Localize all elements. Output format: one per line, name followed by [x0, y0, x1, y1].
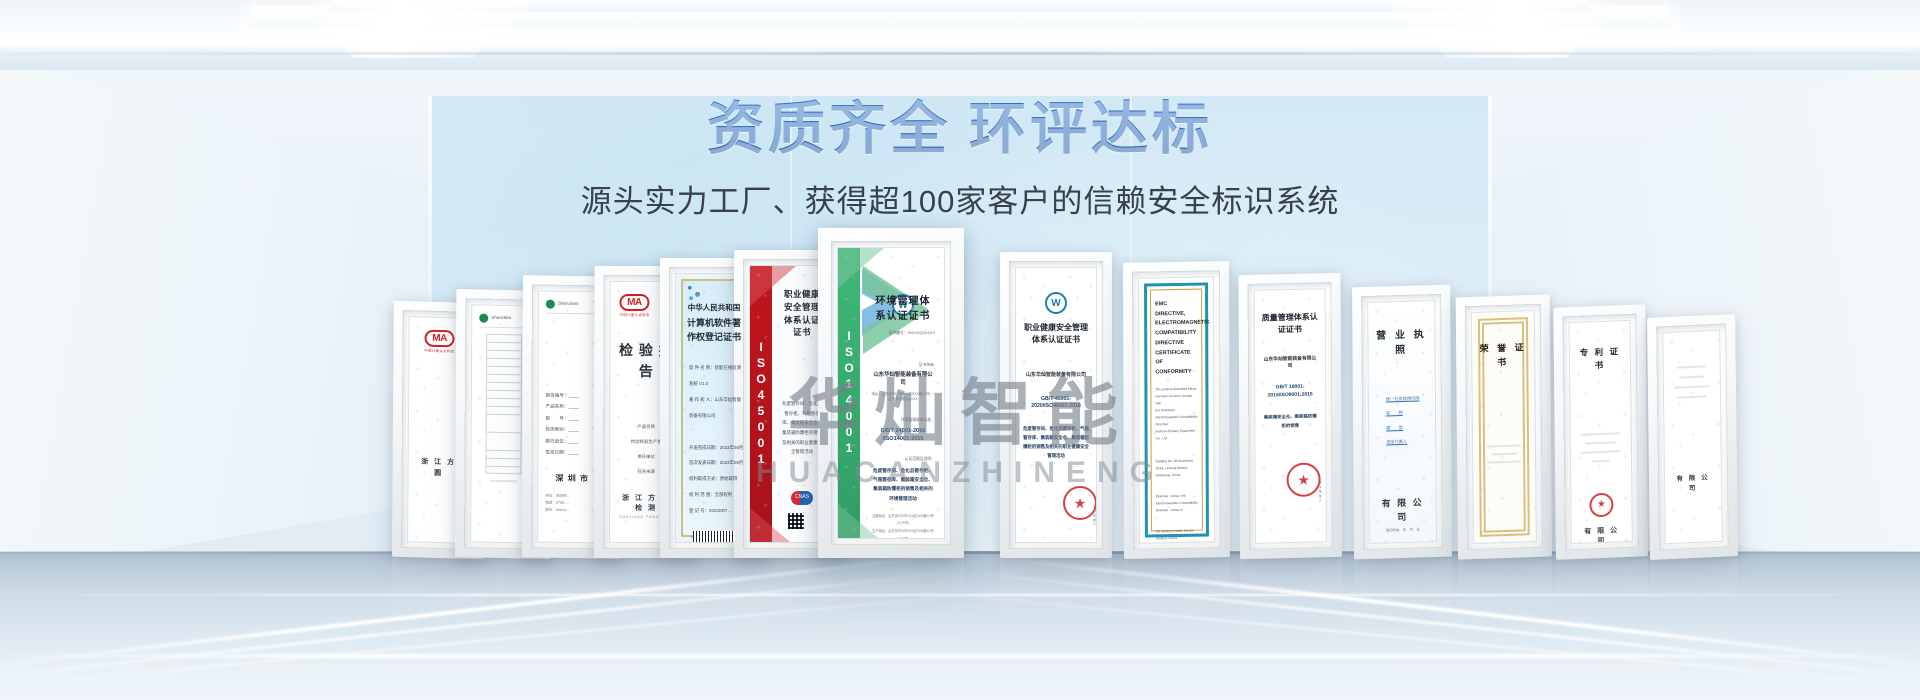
page-subtitle: 源头实力工厂、获得超100家客户的信赖安全标识系统 [0, 176, 1920, 221]
red-seal-stamp: ★ [1063, 486, 1096, 520]
report-fields: 报告编号：____产品名称：____型 号：____检测类别：____委托单位：… [545, 390, 599, 460]
page-title: 资质齐全环评达标 [0, 98, 1920, 162]
page-title-part2: 环评达标 [969, 97, 1213, 161]
page-title-part1: 资质齐全 [707, 97, 951, 161]
certificate-company: 山东华灿智能装备有限公司 [1262, 355, 1318, 371]
banner-headings: 资质齐全环评达标 源头实力工厂、获得超100家客户的信赖安全标识系统 [0, 0, 1920, 221]
floor-light-streak-horizontal [0, 594, 1920, 596]
certificate-scope: 危废暂存间、危化品暂存柜、气瓶暂存库、集装箱安全仓、集装箱防爆柜的销售及相关的职… [782, 399, 822, 457]
certificate-footer: 有 限 公 司 [1377, 496, 1429, 524]
certificate-standard: GB/T 19001-2016/ISO9001:2015 [1262, 384, 1318, 400]
certificate-scope: 集装箱安全仓、集装箱防爆柜的销售 [1262, 413, 1318, 432]
certificate-frame-ce-emc[interactable]: EMC DIRECTIVE, ELECTROMAGNETIC COMPATIBI… [1123, 261, 1230, 559]
certificate-title: 专 利 证 书 [1577, 345, 1623, 372]
certification-emblem-icon: W [1045, 292, 1067, 314]
copyright-fields: 软 件 名 称：智能在线监测系统 V1.0 著 作 权 人：山东华灿智能装备有限… [683, 360, 745, 519]
certificate-frame-business-license[interactable]: 营 业 执 照 统一社会信用代码名 称类 型法定代表人 有 限 公 司 登记机关… [1352, 285, 1452, 560]
certificate-frame-honor-gold[interactable]: 荣 誉 证 书 [1456, 294, 1552, 559]
red-seal-stamp: ★ [1287, 462, 1321, 497]
company-label: 证书持有: [871, 363, 935, 369]
floor [0, 552, 1920, 700]
ma-badge: MA [424, 330, 454, 348]
ma-badge: MA [619, 294, 649, 311]
report-table [485, 334, 522, 475]
standard-label: 环境管理体系标准： [871, 418, 935, 424]
certificate-company: 山东华灿智能装备有限公司 [1023, 372, 1089, 380]
certificate-scope: 危废暂存间、危化品暂存柜、气瓶暂存库、集装箱安全仓、集装箱防爆柜的销售及相关的职… [1023, 425, 1089, 460]
accreditation-logo-icon: CNAS [791, 491, 813, 505]
ce-title: EMC DIRECTIVE, ELECTROMAGNETIC COMPATIBI… [1155, 300, 1197, 378]
certificate-company: 山东华灿智能装备有限公司 [871, 371, 935, 387]
certificate-frame-software-copyright[interactable]: 中华人民共和国 计算机软件著作权登记证书 软 件 名 称：智能在线监测系统 V1… [660, 258, 768, 558]
certificate-title: 职业健康安全管理体系认证证书 [782, 288, 822, 339]
certificate-frame-iso9001[interactable]: 质量管理体系认证证书 山东华灿智能装备有限公司 GB/T 19001-2016/… [1239, 273, 1342, 559]
certificate-frame-iso14001[interactable]: ISO14001 W 环境管理体系认证证书 证书编号：00XXXQXXXXX [818, 228, 964, 558]
certificate-footer: 有 限 公 司 [1672, 473, 1714, 494]
cert-no-label: 证书编号： [889, 331, 908, 335]
banner-stage: 资质齐全环评达标 源头实力工厂、获得超100家客户的信赖安全标识系统 MA 中国… [0, 0, 1920, 700]
floor-light-streak [0, 569, 967, 683]
issuer-logo-icon [479, 313, 488, 322]
certificate-title: 质量管理体系认证证书 [1262, 311, 1318, 336]
certificate-title: 营 业 执 照 [1375, 327, 1427, 358]
certificate-footer: 有 限 公 司 [1579, 526, 1625, 544]
iso-band-iso14001: ISO14001 [838, 248, 860, 538]
floor-light-streak-horizontal [0, 654, 1920, 658]
certificate-frame-iso45001-cn[interactable]: W 职业健康安全管理体系认证证书 山东华灿智能装备有限公司 GB/T 45001… [1000, 252, 1112, 558]
signer-label: 证书签发人 [1319, 480, 1322, 503]
iso-band-iso45001: ISO45001 [750, 266, 772, 542]
certificate-footer: 深 圳 市 [545, 472, 599, 485]
certificate-scope: 危废暂存间、危化品暂存柜、气瓶暂存库、集装箱安全仓、集装箱防爆柜的销售及相关的环… [871, 466, 935, 503]
barcode [693, 531, 735, 542]
certificate-title: 荣 誉 证 书 [1479, 341, 1527, 370]
certificate-frame-patent[interactable]: 专 利 证 书 ★ 有 限 公 司 [1553, 304, 1648, 560]
certificate-title: 环境管理体系认证证书 [871, 294, 935, 324]
qr-code [788, 513, 804, 529]
red-seal-stamp: ★ [1589, 492, 1613, 517]
scope-label: 认证范围及说明： [871, 457, 935, 463]
issuer-name: Shenzhen [491, 315, 511, 322]
certificate-standard: GB/T 24001-2016 /ISO14001:2015 [871, 427, 935, 444]
certificate-frame-plain-right[interactable]: 有 限 公 司 [1647, 314, 1738, 560]
issuer-logo-icon [546, 300, 555, 309]
certificate-title: 职业健康安全管理体系认证证书 [1023, 322, 1089, 346]
certificate-wall: MA 中国计量认证标志 浙 江 方 圆 Shenzhen [0, 228, 1920, 558]
issuer-name: Shenzhen [558, 301, 579, 308]
signer-label: 证书签发人 [1093, 504, 1096, 527]
certificate-title-line1: 中华人民共和国 [683, 302, 745, 313]
floor-light-streak [953, 569, 1920, 683]
certificate-standard: GB/T 45001-2020/ISO45001:2018 [1023, 396, 1089, 412]
certificate-title-line2: 计算机软件著作权登记证书 [683, 317, 745, 344]
